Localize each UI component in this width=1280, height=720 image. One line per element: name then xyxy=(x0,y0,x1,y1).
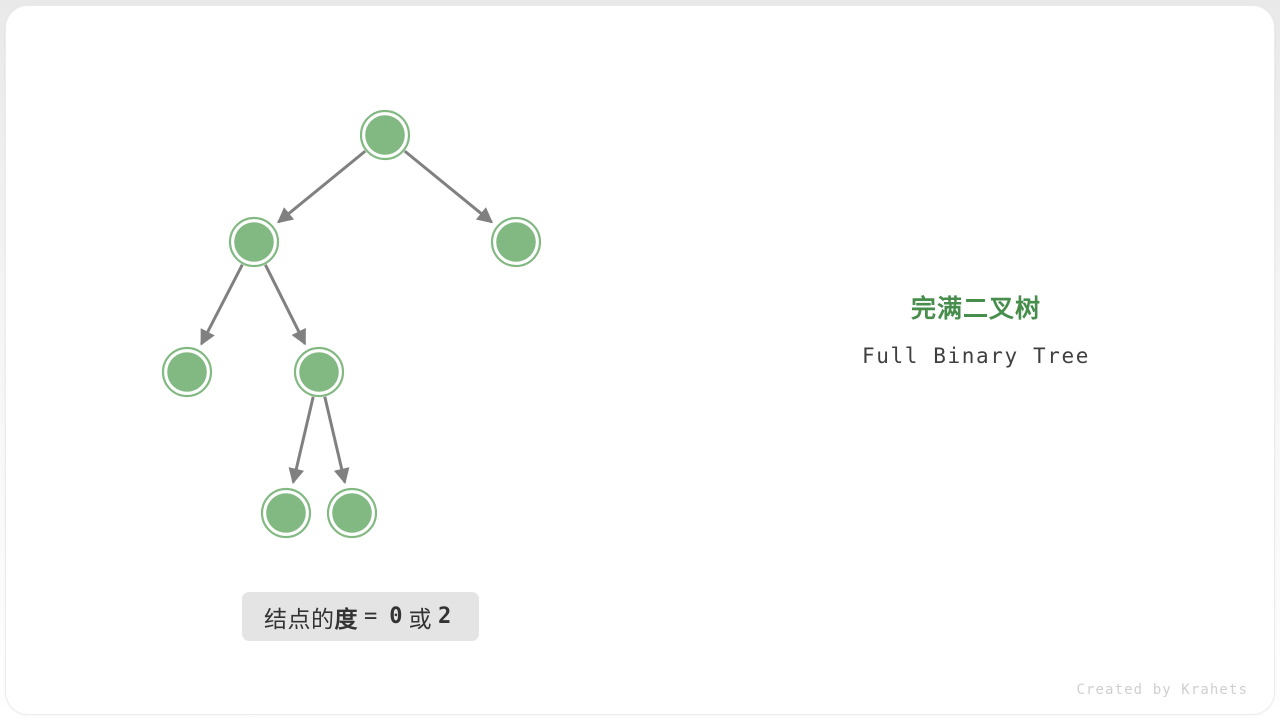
caption-block: 完满二叉树 Full Binary Tree xyxy=(706,294,1246,368)
tree-node-disc xyxy=(234,222,274,262)
tree-edge xyxy=(293,397,313,482)
tree-edge-layer xyxy=(201,151,491,482)
tree-node-layer xyxy=(163,111,540,537)
degree-keyword-label: 度 xyxy=(335,600,359,634)
degree-prefix-label: 结点的 xyxy=(264,600,335,634)
tree-node xyxy=(328,489,376,537)
tree-node xyxy=(163,348,211,396)
degree-value-two: 2 xyxy=(432,604,457,629)
credit-label: Created by Krahets xyxy=(1076,682,1248,698)
tree-node-disc xyxy=(365,115,405,155)
degree-conjunction-label: 或 xyxy=(409,600,433,634)
degree-annotation-chip: 结点的 度 = 0 或 2 xyxy=(242,592,479,641)
tree-node xyxy=(361,111,409,159)
diagram-subtitle: Full Binary Tree xyxy=(706,344,1246,368)
diagram-title: 完满二叉树 xyxy=(706,294,1246,324)
tree-node xyxy=(262,489,310,537)
tree-node-disc xyxy=(167,352,207,392)
tree-edge xyxy=(278,151,365,222)
tree-edge xyxy=(265,265,305,344)
degree-equals-symbol: = xyxy=(358,604,383,629)
tree-node-disc xyxy=(496,222,536,262)
tree-node xyxy=(230,218,278,266)
tree-node xyxy=(295,348,343,396)
tree-edge xyxy=(201,265,242,344)
tree-node-disc xyxy=(266,493,306,533)
tree-node-disc xyxy=(332,493,372,533)
tree-node xyxy=(492,218,540,266)
tree-node-disc xyxy=(299,352,339,392)
tree-edge xyxy=(325,397,345,482)
tree-edge xyxy=(405,151,492,222)
degree-value-zero: 0 xyxy=(383,604,408,629)
diagram-card: 完满二叉树 Full Binary Tree 结点的 度 = 0 或 2 Cre… xyxy=(6,6,1274,714)
screenshot-root: 完满二叉树 Full Binary Tree 结点的 度 = 0 或 2 Cre… xyxy=(0,0,1280,720)
